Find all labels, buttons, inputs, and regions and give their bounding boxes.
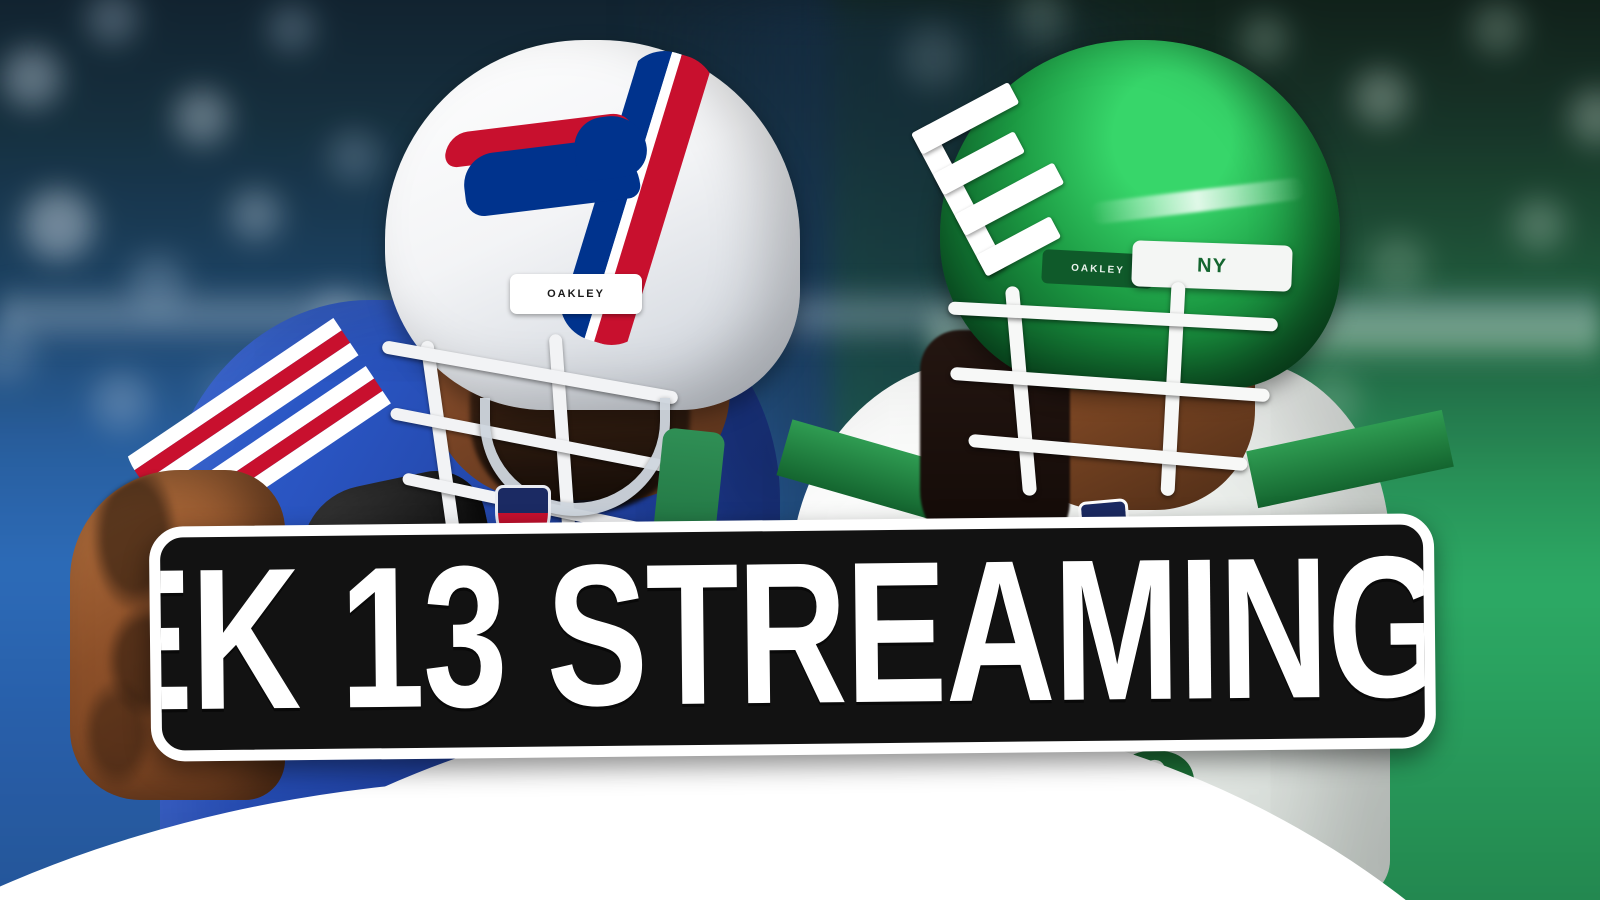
graphic-canvas: OAKLEY NFL 0 OAKLEY NY NFL 8 <box>0 0 1600 900</box>
title-banner: WEEK 13 STREAMING WR <box>149 513 1436 761</box>
title-banner-wrapper: WEEK 13 STREAMING WR <box>149 513 1436 761</box>
bills-oakley-bumper-text: OAKLEY <box>510 274 642 314</box>
banner-title-text: WEEK 13 STREAMING WR <box>149 523 1436 753</box>
jets-facemask <box>930 280 1300 530</box>
